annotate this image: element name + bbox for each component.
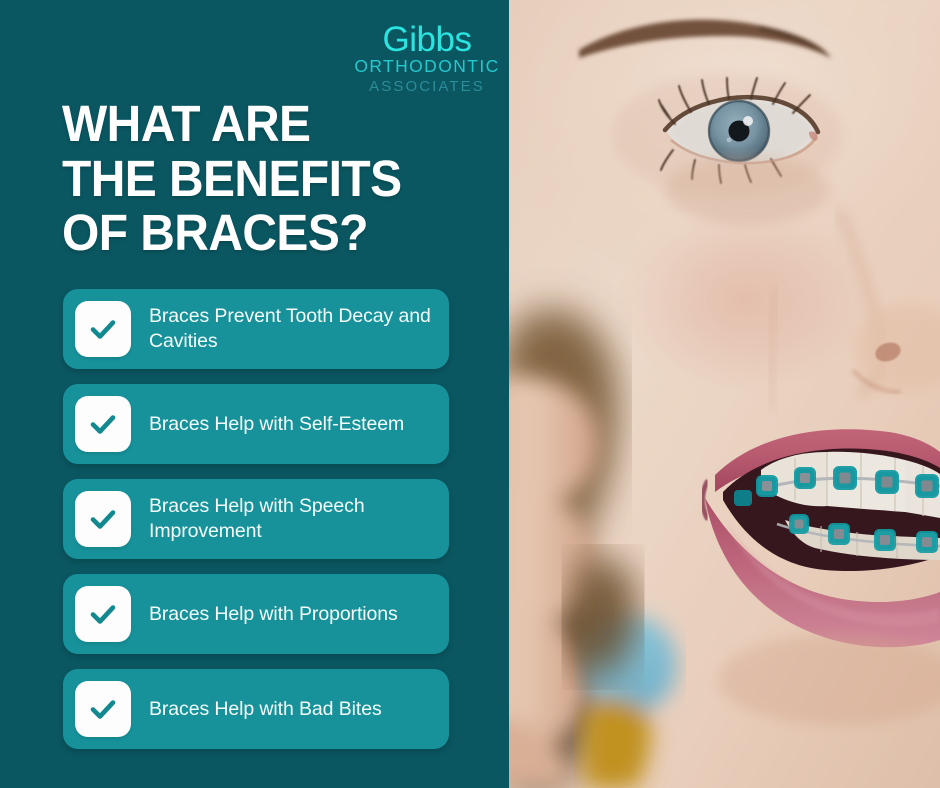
list-item: Braces Help with Proportions (63, 574, 449, 654)
list-item: Braces Help with Bad Bites (63, 669, 449, 749)
list-item-label: Braces Help with Bad Bites (149, 697, 439, 722)
list-item-label: Braces Prevent Tooth Decay and Cavities (149, 304, 439, 354)
patient-photo-illustration (509, 0, 940, 788)
list-item: Braces Help with Self-Esteem (63, 384, 449, 464)
list-item-label: Braces Help with Speech Improvement (149, 494, 439, 544)
page-title: WHAT ARE THE BENEFITS OF BRACES? (62, 97, 457, 261)
check-icon (75, 301, 131, 357)
list-item-label: Braces Help with Proportions (149, 602, 439, 627)
left-content-panel: Gibbs ORTHODONTIC ASSOCIATES WHAT ARE TH… (0, 0, 509, 788)
check-icon (75, 491, 131, 547)
patient-photo (509, 0, 940, 788)
check-icon (75, 586, 131, 642)
page-title-line-3: OF BRACES? (62, 206, 457, 261)
logo-name: Gibbs (352, 22, 502, 57)
page-title-line-2: THE BENEFITS (62, 152, 457, 207)
logo-line-associates: ASSOCIATES (352, 79, 502, 94)
page-title-line-1: WHAT ARE (62, 97, 457, 152)
check-icon (75, 396, 131, 452)
list-item-label: Braces Help with Self-Esteem (149, 412, 439, 437)
logo-line-orthodontic: ORTHODONTIC (352, 58, 502, 76)
list-item: Braces Help with Speech Improvement (63, 479, 449, 559)
brand-logo: Gibbs ORTHODONTIC ASSOCIATES (352, 22, 502, 94)
benefits-list: Braces Prevent Tooth Decay and Cavities … (63, 289, 449, 749)
check-icon (75, 681, 131, 737)
poster-canvas: Gibbs ORTHODONTIC ASSOCIATES WHAT ARE TH… (0, 0, 940, 788)
list-item: Braces Prevent Tooth Decay and Cavities (63, 289, 449, 369)
